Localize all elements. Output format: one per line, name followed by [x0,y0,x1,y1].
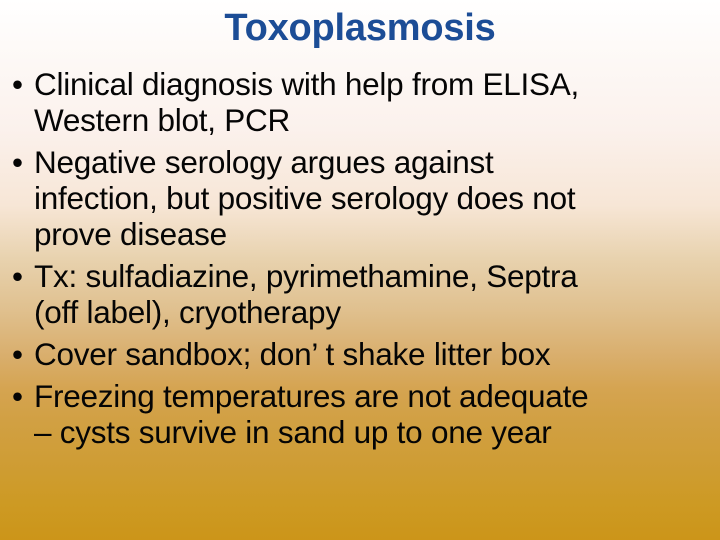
list-item-text: Clinical diagnosis with help from ELISA,… [34,66,712,138]
list-item-line: Cover sandbox; don’ t shake litter box [34,336,712,372]
list-item: • Cover sandbox; don’ t shake litter box [8,336,712,372]
list-item-line: Clinical diagnosis with help from ELISA, [34,66,712,102]
list-item-text: Cover sandbox; don’ t shake litter box [34,336,712,372]
list-item: • Clinical diagnosis with help from ELIS… [8,66,712,138]
bullet-point-icon: • [12,336,30,372]
list-item-line: Tx: sulfadiazine, pyrimethamine, Septra [34,258,712,294]
list-item-line: infection, but positive serology does no… [34,180,712,216]
bullet-list: • Clinical diagnosis with help from ELIS… [8,66,712,450]
list-item-line: prove disease [34,216,712,252]
list-item: • Tx: sulfadiazine, pyrimethamine, Septr… [8,258,712,330]
bullet-point-icon: • [12,66,30,102]
list-item-line: Negative serology argues against [34,144,712,180]
list-item-line: – cysts survive in sand up to one year [34,414,712,450]
list-item-line: (off label), cryotherapy [34,294,712,330]
list-item: • Negative serology argues against infec… [8,144,712,252]
bullet-point-icon: • [12,144,30,180]
list-item-text: Freezing temperatures are not adequate –… [34,378,712,450]
page-title: Toxoplasmosis [224,6,495,50]
list-item-line: Western blot, PCR [34,102,712,138]
bullet-point-icon: • [12,258,30,294]
slide-canvas: Toxoplasmosis • Clinical diagnosis with … [0,0,720,540]
bullet-point-icon: • [12,378,30,414]
list-item-text: Negative serology argues against infecti… [34,144,712,252]
list-item: • Freezing temperatures are not adequate… [8,378,712,450]
slide-title-block: Toxoplasmosis [0,6,720,50]
list-item-line: Freezing temperatures are not adequate [34,378,712,414]
list-item-text: Tx: sulfadiazine, pyrimethamine, Septra … [34,258,712,330]
